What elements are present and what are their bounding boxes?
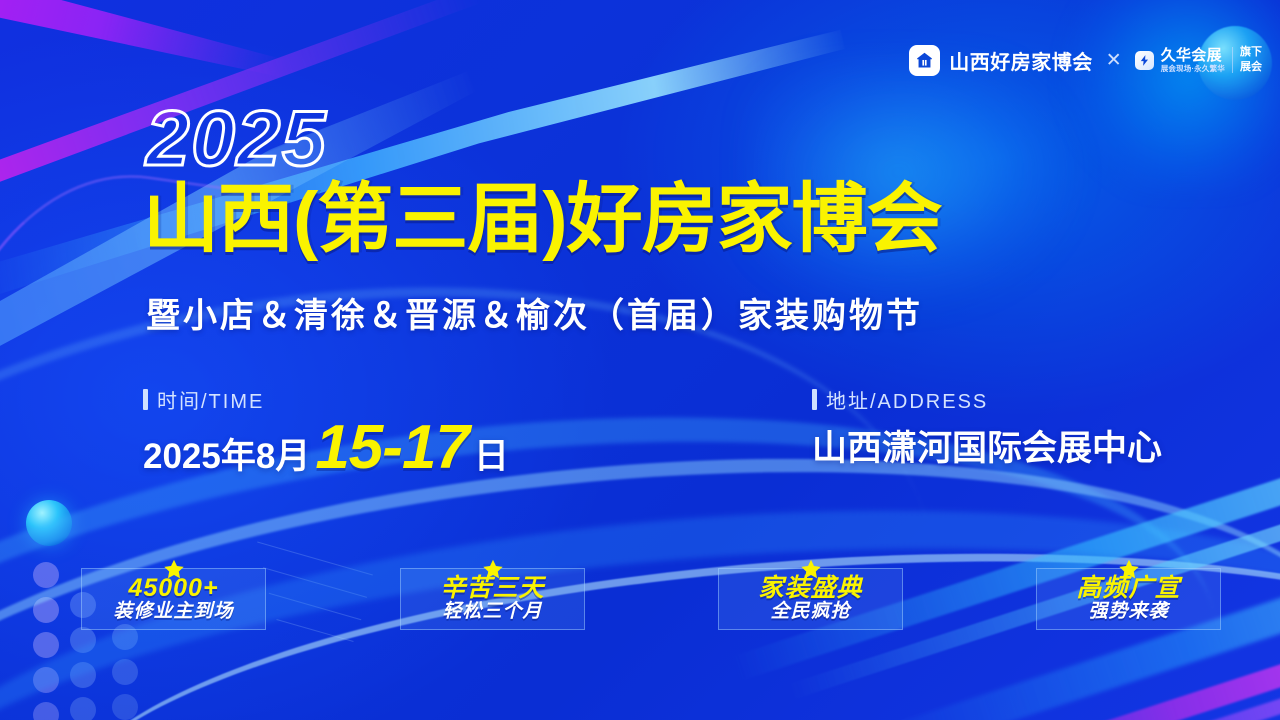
address-value: 山西潇河国际会展中心 (812, 420, 1162, 471)
year-heading: 2025 (146, 99, 328, 177)
dot (70, 662, 96, 688)
magenta-ribbon-top-1 (0, 0, 289, 92)
time-prefix: 2025年8月 (143, 428, 310, 479)
address-label-row: 地址/ADDRESS (812, 385, 1162, 414)
badge-subline: 强势来袭 (1088, 602, 1168, 623)
highlight-badges: 45000+ 装修业主到场 辛苦三天 轻松三个月 家装盛典 全民疯抢 (0, 568, 1280, 650)
dot (33, 667, 59, 693)
partner-brand-logo[interactable]: 久华会展 展会现场·永久繁华 旗下 展会 (1135, 46, 1262, 73)
star-icon (481, 558, 504, 581)
time-value-row: 2025年8月 15-17 日 (143, 420, 509, 479)
main-brand-name: 山西好房家博会 (949, 46, 1093, 75)
address-label: 地址/ADDRESS (826, 385, 988, 414)
badge-subline: 轻松三个月 (442, 602, 542, 623)
partner-tag-line-1: 旗下 (1240, 46, 1262, 59)
badge-item: 高频广宣 强势来袭 (1036, 568, 1221, 630)
lightning-icon (1135, 51, 1154, 70)
main-brand-logo[interactable]: 山西好房家博会 (909, 45, 1093, 76)
magenta-band-2 (951, 660, 1280, 720)
partner-tag-line-2: 展会 (1240, 61, 1262, 74)
address-info-block: 地址/ADDRESS 山西潇河国际会展中心 (812, 385, 1162, 471)
badge-subline: 装修业主到场 (113, 602, 233, 623)
partner-slogan: 展会现场·永久繁华 (1161, 65, 1225, 73)
dot (70, 697, 96, 720)
dot (112, 694, 138, 720)
separator-x-icon: ✕ (1106, 51, 1122, 70)
badge-item: 45000+ 装修业主到场 (81, 568, 266, 630)
badge-item: 辛苦三天 轻松三个月 (400, 568, 585, 630)
time-range: 15-17 (315, 420, 469, 476)
time-suffix: 日 (474, 428, 509, 479)
label-bar-icon (812, 389, 817, 410)
cyan-glow-corner (1060, 0, 1280, 190)
partner-tag: 旗下 展会 (1240, 46, 1262, 73)
page-subtitle: 暨小店＆清徐＆晋源＆榆次（首届）家装购物节 (146, 288, 923, 337)
partner-text-block: 久华会展 展会现场·永久繁华 (1161, 48, 1225, 73)
time-label-row: 时间/TIME (143, 385, 509, 414)
dot (33, 702, 59, 720)
dot (112, 659, 138, 685)
sphere-bottom-left (26, 500, 72, 546)
partner-name: 久华会展 (1161, 48, 1225, 63)
time-label: 时间/TIME (157, 385, 264, 414)
badge-subline: 全民疯抢 (770, 602, 850, 623)
star-icon (1117, 558, 1140, 581)
page-title: 山西(第三届)好房家博会 (143, 182, 942, 258)
star-icon (162, 558, 185, 581)
star-icon (799, 558, 822, 581)
time-info-block: 时间/TIME 2025年8月 15-17 日 (143, 385, 509, 479)
house-icon (909, 45, 940, 76)
label-bar-icon (143, 389, 148, 410)
cyan-band-4 (987, 689, 1280, 720)
event-poster: 山西好房家博会 ✕ 久华会展 展会现场·永久繁华 旗下 展会 2025 山西(第… (0, 0, 1280, 720)
logo-divider (1232, 47, 1233, 73)
logo-bar: 山西好房家博会 ✕ 久华会展 展会现场·永久繁华 旗下 展会 (909, 38, 1262, 82)
badge-item: 家装盛典 全民疯抢 (718, 568, 903, 630)
